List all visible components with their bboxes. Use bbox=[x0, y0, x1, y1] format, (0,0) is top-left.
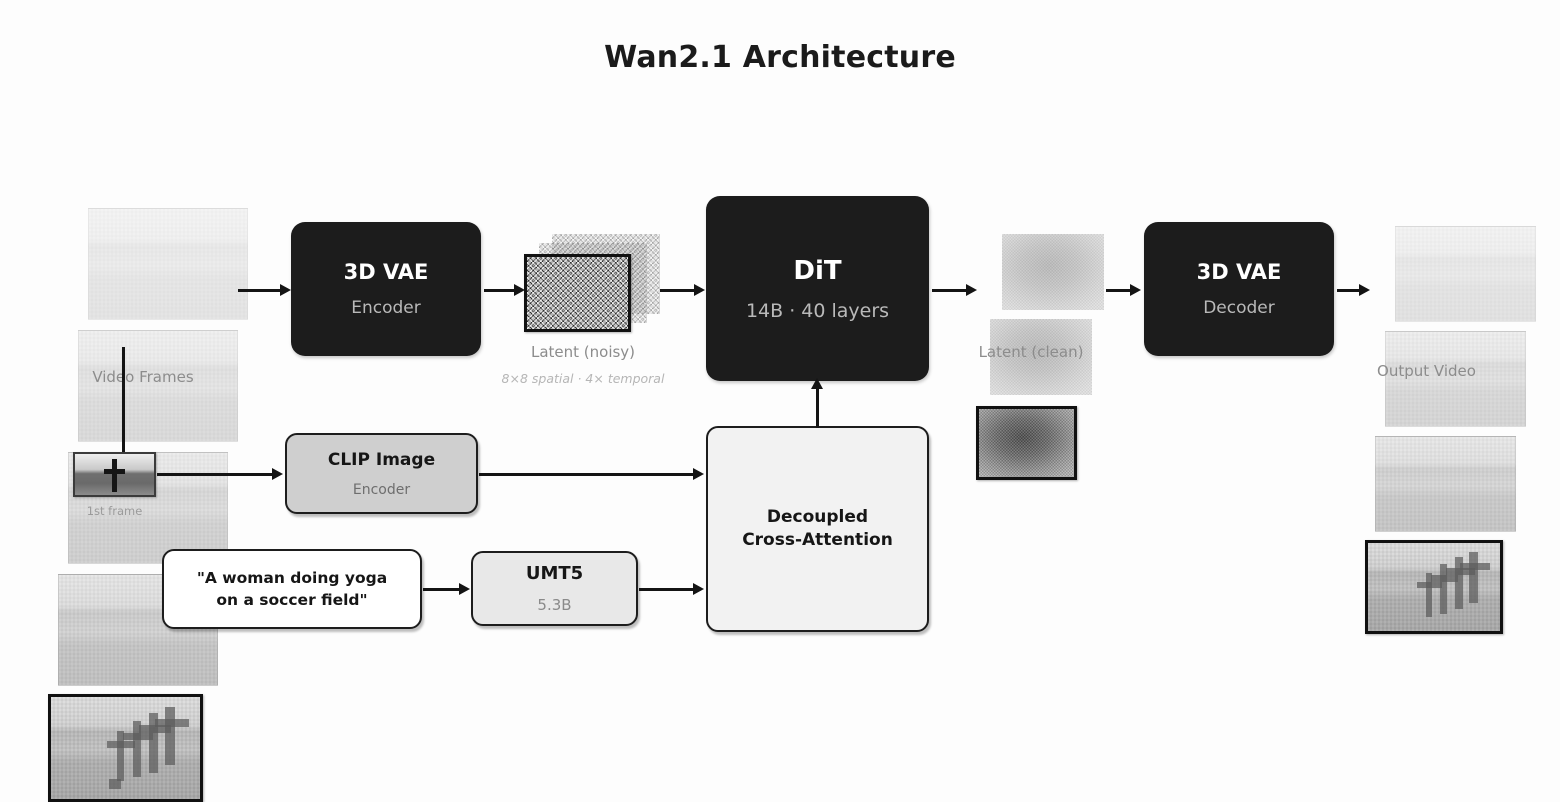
output-video-ghost-1 bbox=[1375, 436, 1516, 532]
arrowhead-umt5-to-cross-attention bbox=[693, 583, 704, 595]
arrowhead-frames-to-encoder bbox=[280, 284, 291, 296]
latent-noisy-detail: 8×8 spatial · 4× temporal bbox=[488, 371, 678, 386]
node-text-prompt-line1: "A woman doing yoga bbox=[197, 567, 387, 589]
output-video-front bbox=[1365, 540, 1503, 634]
connector-first-frame-to-clip bbox=[157, 473, 274, 476]
connector-encoder-to-latent-noisy bbox=[484, 289, 516, 292]
node-dit-title: DiT bbox=[793, 256, 841, 286]
connector-frames-to-first-frame bbox=[122, 347, 125, 453]
node-umt5-title: UMT5 bbox=[526, 563, 583, 584]
video-frames-label: Video Frames bbox=[48, 368, 238, 386]
connector-latent-noisy-to-dit bbox=[660, 289, 696, 292]
output-video-stack bbox=[1365, 226, 1550, 356]
page-title: Wan2.1 Architecture bbox=[0, 40, 1560, 75]
latent-clean-stack bbox=[976, 234, 1111, 344]
node-dit-subtitle: 14B · 40 layers bbox=[746, 300, 889, 322]
connector-latent-clean-to-decoder bbox=[1106, 289, 1132, 292]
node-3d-vae-decoder-title: 3D VAE bbox=[1197, 260, 1282, 284]
output-video-ghost-3 bbox=[1395, 226, 1536, 322]
node-3d-vae-encoder-title: 3D VAE bbox=[344, 260, 429, 284]
node-dit[interactable]: DiT 14B · 40 layers bbox=[706, 196, 929, 381]
connector-frames-to-encoder bbox=[238, 289, 282, 292]
connector-cross-attention-to-dit bbox=[816, 388, 819, 428]
node-umt5-subtitle: 5.3B bbox=[537, 596, 571, 614]
node-cross-attention-line2: Cross-Attention bbox=[742, 529, 893, 552]
node-umt5[interactable]: UMT5 5.3B bbox=[471, 551, 638, 626]
connector-decoder-to-output bbox=[1337, 289, 1361, 292]
connector-clip-to-cross-attention bbox=[479, 473, 695, 476]
video-frame-front bbox=[48, 694, 203, 802]
video-frame-ghost-3 bbox=[78, 330, 238, 442]
node-text-prompt-line2: on a soccer field" bbox=[216, 589, 367, 611]
latent-noisy-stack bbox=[524, 234, 664, 344]
arrowhead-latent-clean-to-decoder bbox=[1130, 284, 1141, 296]
node-3d-vae-decoder[interactable]: 3D VAE Decoder bbox=[1144, 222, 1334, 356]
output-video-label: Output Video bbox=[1344, 362, 1509, 380]
latent-clean-ghost-2 bbox=[1002, 234, 1104, 310]
node-3d-vae-encoder-subtitle: Encoder bbox=[351, 298, 421, 318]
latent-clean-label: Latent (clean) bbox=[951, 343, 1111, 361]
connector-prompt-to-umt5 bbox=[423, 588, 461, 591]
connector-dit-to-latent-clean bbox=[932, 289, 968, 292]
latent-clean-front bbox=[976, 406, 1077, 480]
node-cross-attention-line1: Decoupled bbox=[767, 506, 868, 529]
diagram-canvas: Wan2.1 Architecture Video Frames 1st fra… bbox=[0, 0, 1560, 712]
arrowhead-cross-attention-to-dit bbox=[811, 378, 823, 389]
node-decoupled-cross-attention[interactable]: Decoupled Cross-Attention bbox=[706, 426, 929, 632]
arrowhead-latent-noisy-to-dit bbox=[694, 284, 705, 296]
arrowhead-prompt-to-umt5 bbox=[459, 583, 470, 595]
latent-noisy-front bbox=[524, 254, 631, 332]
connector-umt5-to-cross-attention bbox=[639, 588, 695, 591]
node-clip-image-subtitle: Encoder bbox=[353, 482, 410, 498]
node-clip-image-title: CLIP Image bbox=[328, 450, 435, 470]
node-clip-image-encoder[interactable]: CLIP Image Encoder bbox=[285, 433, 478, 514]
first-frame-label: 1st frame bbox=[62, 504, 167, 518]
arrowhead-first-frame-to-clip bbox=[272, 468, 283, 480]
latent-noisy-label: Latent (noisy) bbox=[498, 343, 668, 361]
node-3d-vae-encoder[interactable]: 3D VAE Encoder bbox=[291, 222, 481, 356]
arrowhead-clip-to-cross-attention bbox=[693, 468, 704, 480]
video-frame-ghost-4 bbox=[88, 208, 248, 320]
node-text-prompt[interactable]: "A woman doing yoga on a soccer field" bbox=[162, 549, 422, 629]
first-frame-thumbnail bbox=[73, 452, 156, 497]
video-frames-stack bbox=[48, 208, 258, 358]
node-3d-vae-decoder-subtitle: Decoder bbox=[1203, 298, 1275, 318]
